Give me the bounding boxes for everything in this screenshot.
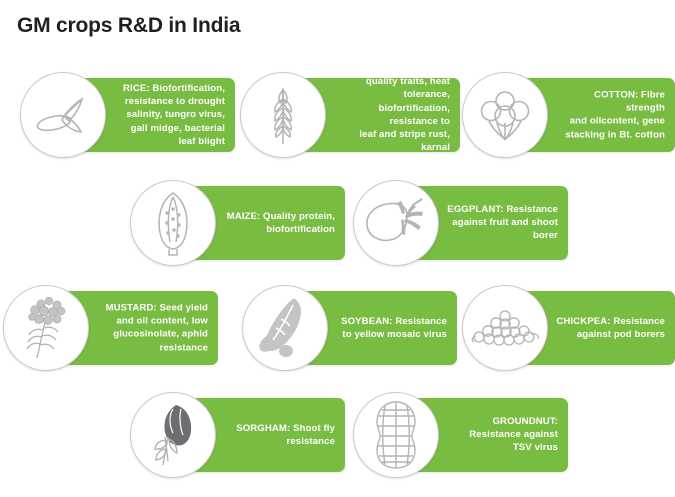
card-text-groundnut: GROUNDNUT: Resistance against TSV virus [446,415,558,455]
crop-card-soybean[interactable]: SOYBEAN: Resistance to yellow mosaic vir… [242,285,457,371]
chickpea-icon [462,285,548,371]
infographic-root: GM crops R&D in India RICE: Biofortifica… [0,0,675,497]
card-text-eggplant: EGGPLANT: Resistance against fruit and s… [446,203,558,243]
groundnut-icon [353,392,439,478]
crop-card-eggplant[interactable]: EGGPLANT: Resistance against fruit and s… [353,180,568,266]
eggplant-icon [353,180,439,266]
cotton-icon [462,72,548,158]
crop-card-wheat[interactable]: WHEAT: Improvement of quality traits, he… [240,72,460,158]
crop-card-mustard[interactable]: MUSTARD: Seed yield and oil content, low… [3,285,218,371]
page-title: GM crops R&D in India [17,14,240,38]
crop-card-groundnut[interactable]: GROUNDNUT: Resistance against TSV virus [353,392,568,478]
crop-card-cotton[interactable]: COTTON: Fibre strength and oilcontent, g… [462,72,675,158]
card-text-chickpea: CHICKPEA: Resistance against pod borers [555,315,665,341]
sorgham-icon [130,392,216,478]
crop-card-chickpea[interactable]: CHICKPEA: Resistance against pod borers [462,285,675,371]
card-text-soybean: SOYBEAN: Resistance to yellow mosaic vir… [335,315,447,341]
card-text-sorgham: SORGHAM: Shoot fly resistance [223,422,335,448]
maize-icon [130,180,216,266]
crop-card-sorgham[interactable]: SORGHAM: Shoot fly resistance [130,392,345,478]
rice-icon [20,72,106,158]
card-text-maize: MAIZE: Quality protein, biofortification [223,210,335,236]
card-text-mustard: MUSTARD: Seed yield and oil content, low… [96,302,208,355]
wheat-icon [240,72,326,158]
card-text-rice: RICE: Biofortification, resistance to dr… [113,82,225,148]
soybean-icon [242,285,328,371]
crop-card-rice[interactable]: RICE: Biofortification, resistance to dr… [20,72,235,158]
mustard-icon [3,285,89,371]
card-text-wheat: WHEAT: Improvement of quality traits, he… [333,62,450,168]
card-text-cotton: COTTON: Fibre strength and oilcontent, g… [555,89,665,142]
crop-card-maize[interactable]: MAIZE: Quality protein, biofortification [130,180,345,266]
